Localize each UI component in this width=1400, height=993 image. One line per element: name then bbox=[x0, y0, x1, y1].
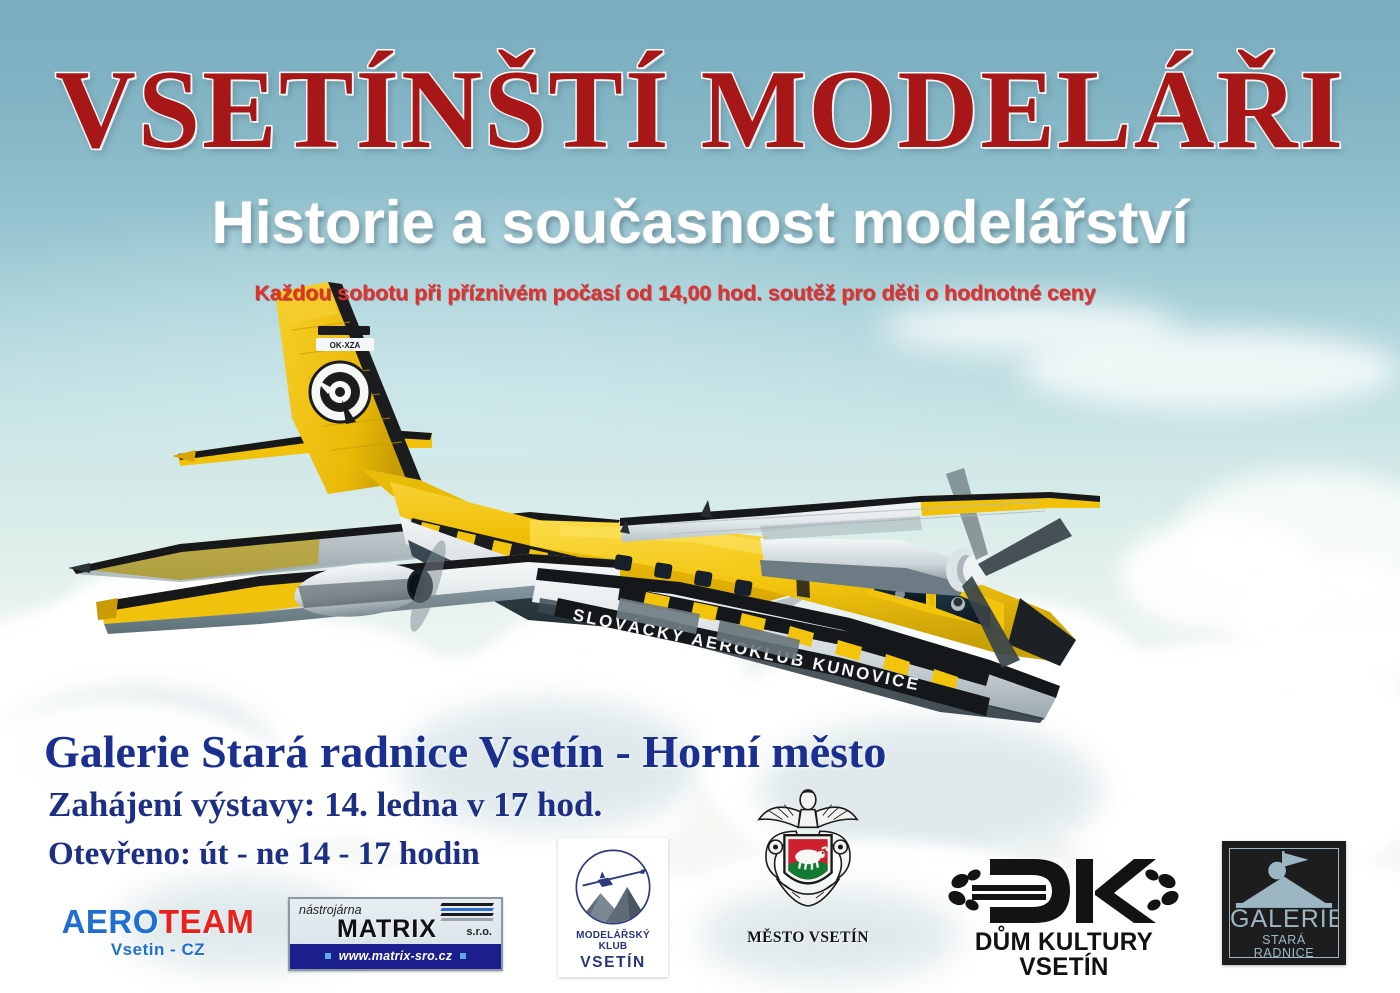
aircraft-illustration: OK-XZA bbox=[60, 268, 1100, 723]
matrix-legal-form: s.r.o. bbox=[466, 927, 492, 938]
aeroteam-team-text: TEAM bbox=[159, 903, 255, 940]
galerie-line2: STARÁ RADNICE bbox=[1230, 934, 1338, 958]
modelarsky-klub-line2: VSETÍN bbox=[563, 955, 663, 971]
matrix-name: MATRIX bbox=[337, 917, 437, 942]
matrix-frame: nástrojárna MATRIX s.r.o. www.matrix-sro… bbox=[288, 897, 503, 971]
matrix-website: www.matrix-sro.cz bbox=[339, 949, 452, 963]
logo-aeroteam: AEROTEAM Vsetin - CZ bbox=[48, 905, 268, 958]
matrix-stripes-icon bbox=[441, 903, 493, 923]
venue-line: Galerie Stará radnice Vsetín - Horní měs… bbox=[44, 728, 886, 776]
aeroteam-aero-text: AERO bbox=[62, 903, 159, 940]
coat-of-arms-icon bbox=[749, 788, 867, 928]
logo-mesto-vsetin: MĚSTO VSETÍN bbox=[742, 788, 874, 946]
matrix-top-row: nástrojárna MATRIX s.r.o. bbox=[295, 903, 496, 943]
modelarsky-klub-line1: MODELÁŘSKÝ KLUB bbox=[566, 930, 661, 951]
galerie-line1: GALERIE bbox=[1230, 907, 1338, 932]
town-hall-tower-icon bbox=[1230, 849, 1338, 911]
galerie-box: GALERIE STARÁ RADNICE bbox=[1222, 841, 1346, 965]
aeroteam-wordmark: AEROTEAM bbox=[48, 905, 268, 938]
mesto-vsetin-label: MĚSTO VSETÍN bbox=[742, 930, 874, 946]
modelarsky-klub-card: MODELÁŘSKÝ KLUB VSETÍN bbox=[558, 838, 668, 977]
dk-monogram-icon bbox=[948, 853, 1180, 929]
aeroteam-subtitle: Vsetin - CZ bbox=[48, 941, 268, 958]
page-title: VSETÍNŠTÍ MODELÁŘI bbox=[0, 54, 1400, 166]
page-subtitle: Historie a současnost modelářství bbox=[0, 193, 1400, 253]
galerie-inner-frame: GALERIE STARÁ RADNICE bbox=[1229, 848, 1339, 958]
dum-kultury-label: DŮM KULTURY VSETÍN bbox=[944, 930, 1185, 980]
logo-matrix: nástrojárna MATRIX s.r.o. www.matrix-sro… bbox=[288, 897, 503, 971]
logo-galerie: GALERIE STARÁ RADNICE bbox=[1222, 841, 1346, 965]
logo-modelarsky-klub: MODELÁŘSKÝ KLUB VSETÍN bbox=[558, 838, 668, 977]
promo-note: Každou sobotu při příznivém počasí od 14… bbox=[0, 281, 1400, 306]
matrix-website-bar: www.matrix-sro.cz bbox=[290, 944, 501, 969]
matrix-square-left-icon bbox=[325, 953, 331, 959]
glider-mountain-icon bbox=[574, 848, 652, 926]
svg-text:OK-XZA: OK-XZA bbox=[330, 341, 361, 350]
hours-line: Otevřeno: út - ne 14 - 17 hodin bbox=[48, 837, 480, 872]
opening-line: Zahájení výstavy: 14. ledna v 17 hod. bbox=[48, 787, 602, 824]
exhibition-poster: OK-XZA bbox=[0, 0, 1400, 993]
logo-dum-kultury: DŮM KULTURY VSETÍN bbox=[940, 853, 1188, 980]
matrix-square-right-icon bbox=[460, 953, 466, 959]
